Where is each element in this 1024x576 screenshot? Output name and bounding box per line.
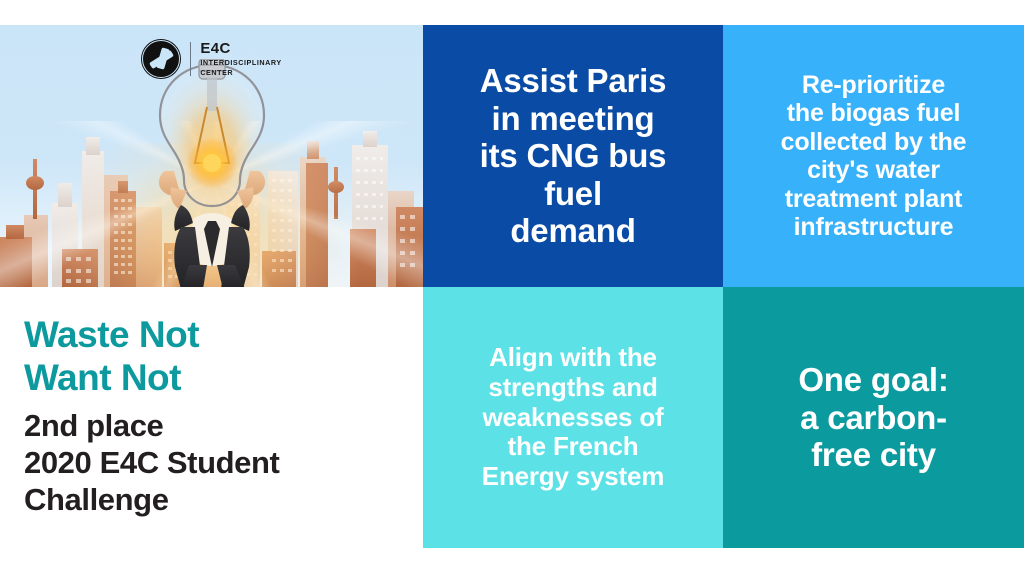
institut-polytechnique-seal-icon [141,39,181,79]
logo-title: E4C [200,41,281,56]
logo-divider [190,42,191,76]
panel-re-prioritize-biogas-text: Re-prioritize the biogas fuel collected … [767,71,981,242]
seal-ring [142,40,180,78]
panel-align-french-energy[interactable]: Align with the strengths and weaknesses … [423,287,723,548]
quadrant-grid: E4C INTERDISCIPLINARY CENTER Assist Pari… [0,25,1024,548]
award-subtitle: 2nd place 2020 E4C Student Challenge [24,407,423,519]
panel-re-prioritize-biogas[interactable]: Re-prioritize the biogas fuel collected … [723,25,1024,287]
logo-subtitle: INTERDISCIPLINARY CENTER [200,58,281,77]
lightbulb-and-figure-svg [107,59,317,287]
panel-assist-paris-text: Assist Paris in meeting its CNG bus fuel… [466,62,681,250]
hero-image-panel: E4C INTERDISCIPLINARY CENTER [0,25,423,287]
logo-wordmark: E4C INTERDISCIPLINARY CENTER [200,41,281,77]
panel-assist-paris[interactable]: Assist Paris in meeting its CNG bus fuel… [423,25,723,287]
award-title: Waste Not Want Not [24,313,423,400]
caption-panel: Waste Not Want Not 2nd place 2020 E4C St… [0,287,423,548]
e4c-logo: E4C INTERDISCIPLINARY CENTER [0,33,423,85]
slide-canvas: E4C INTERDISCIPLINARY CENTER Assist Pari… [0,0,1024,576]
panel-align-french-energy-text: Align with the strengths and weaknesses … [468,343,678,491]
panel-one-goal-carbon-free[interactable]: One goal: a carbon- free city [723,287,1024,548]
businessman-with-lightbulb [107,59,317,287]
panel-one-goal-carbon-free-text: One goal: a carbon- free city [784,361,962,474]
